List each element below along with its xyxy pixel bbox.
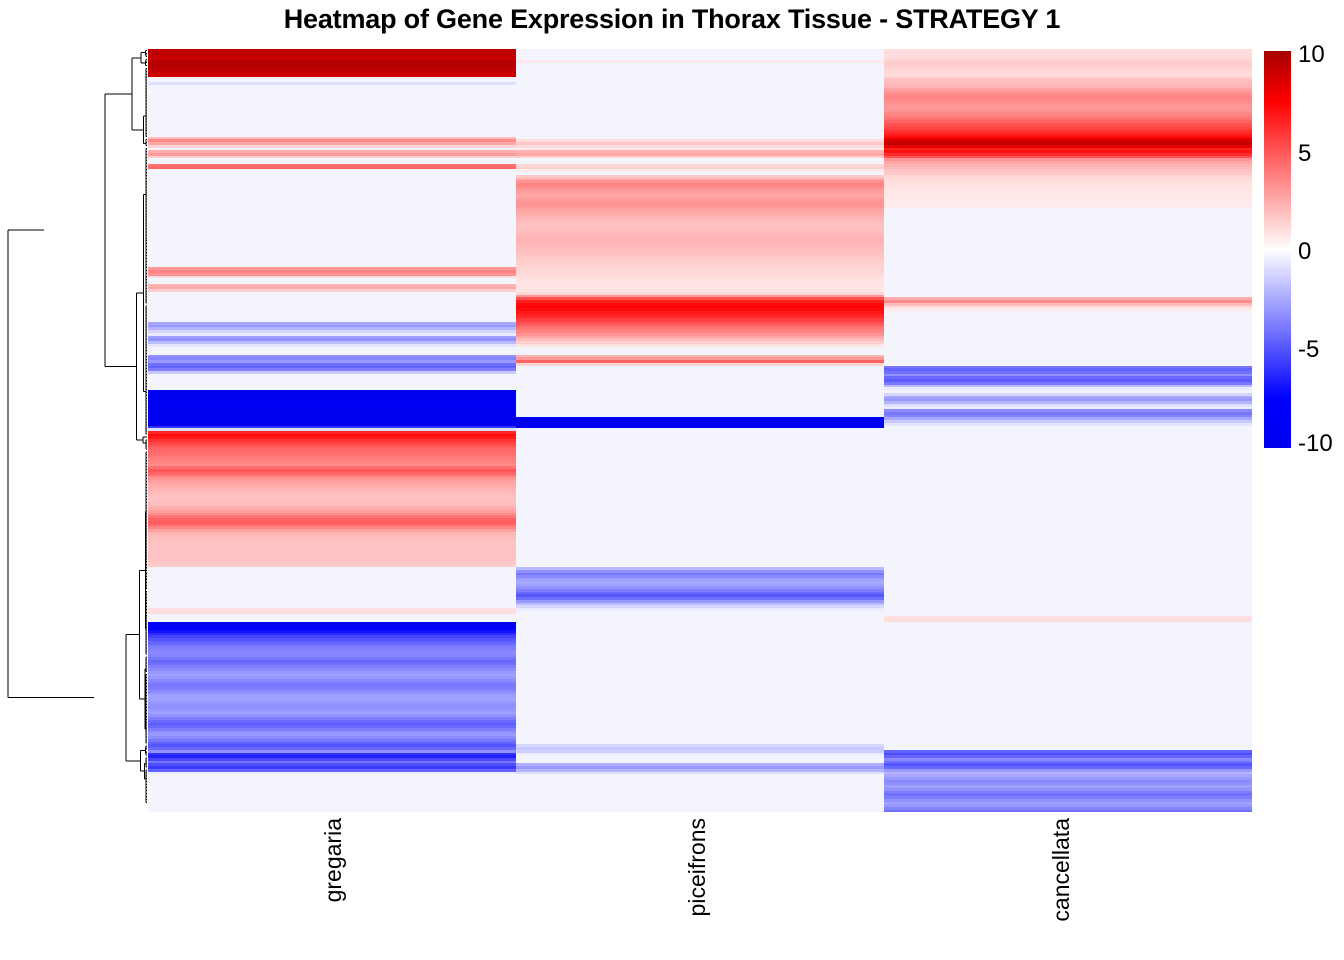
heatmap-grid bbox=[148, 49, 1252, 812]
colorbar-tick-neg10: -10 bbox=[1298, 432, 1333, 456]
colorbar-tick-0: 0 bbox=[1298, 240, 1311, 264]
page-title: Heatmap of Gene Expression in Thorax Tis… bbox=[0, 4, 1344, 35]
column-label-piceifrons: piceifrons bbox=[684, 818, 711, 916]
colorbar-tick-10: 10 bbox=[1298, 43, 1325, 67]
column-label-cancellata: cancellata bbox=[1048, 818, 1075, 922]
dendrogram-svg bbox=[0, 45, 148, 813]
heatmap-figure: Heatmap of Gene Expression in Thorax Tis… bbox=[0, 0, 1344, 960]
colorbar-tick-neg5: -5 bbox=[1298, 338, 1319, 362]
row-dendrogram bbox=[0, 45, 148, 813]
colorbar-tick-5: 5 bbox=[1298, 142, 1311, 166]
colorbar-gradient bbox=[1264, 51, 1291, 448]
colorbar: 10 5 0 -5 -10 bbox=[1264, 51, 1344, 451]
column-label-gregaria: gregaria bbox=[320, 818, 347, 902]
heatmap-canvas bbox=[148, 49, 1252, 812]
